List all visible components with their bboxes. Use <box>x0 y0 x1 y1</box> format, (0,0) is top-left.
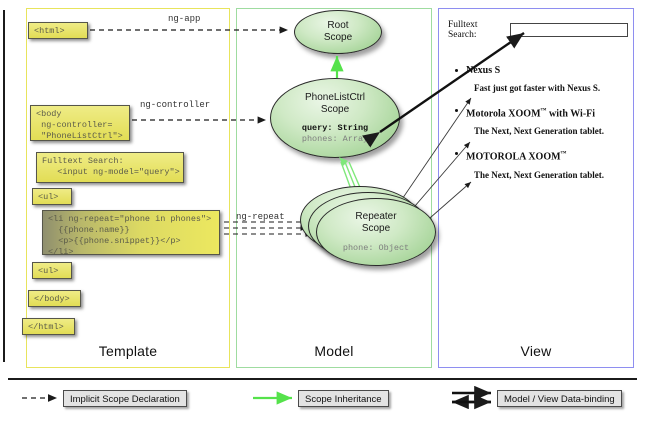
phonelistctrl-scope: PhoneListCtrlScope query: String phones:… <box>270 78 400 158</box>
legend-item-scope-inheritance: Scope Inheritance <box>298 390 389 407</box>
phonelistctrl-scope-props: query: String phones: Array <box>302 123 368 145</box>
view-content: Fulltext Search: Nexus S Fast just got f… <box>444 14 630 191</box>
label-ng-repeat: ng-repeat <box>236 212 285 222</box>
prop-query: query: String <box>302 123 368 134</box>
template-box-html-close: </html> <box>22 318 75 335</box>
legend-glyph-model-view-data-binding <box>452 393 491 402</box>
legend-divider <box>8 378 637 380</box>
list-item: Motorola XOOM™ with Wi-Fi The Next, Next… <box>466 104 630 138</box>
panel-model-title: Model <box>237 343 431 359</box>
template-box-html-open: <html> <box>28 22 88 39</box>
panel-view-title: View <box>439 343 633 359</box>
root-scope: RootScope <box>294 10 382 54</box>
repeater-scope-label: RepeaterScope <box>355 211 396 235</box>
repeater-scope: RepeaterScope phone: Object <box>316 198 436 266</box>
view-phone-list: Nexus S Fast just got faster with Nexus … <box>444 64 630 182</box>
template-box-ul-open: <ul> <box>32 188 72 205</box>
phone-snippet: Fast just got faster with Nexus S. <box>474 82 630 95</box>
phonelistctrl-scope-label: PhoneListCtrlScope <box>305 92 365 116</box>
template-box-search-markup: Fulltext Search: <input ng-model="query"… <box>36 152 184 183</box>
phone-name: MOTOROLA XOOM™ <box>466 147 630 164</box>
phone-snippet: The Next, Next Generation tablet. <box>474 125 630 138</box>
label-ng-app: ng-app <box>168 14 200 24</box>
label-ng-controller: ng-controller <box>140 100 210 110</box>
phone-name: Motorola XOOM™ with Wi-Fi <box>466 104 630 121</box>
list-item: MOTOROLA XOOM™ The Next, Next Generation… <box>466 147 630 181</box>
panel-template-title: Template <box>27 343 229 359</box>
legend-item-model-view-data-binding: Model / View Data-binding <box>497 390 622 407</box>
repeater-scope-props: phone: Object <box>343 243 409 254</box>
template-box-ul-close: <ul> <box>32 262 72 279</box>
left-vertical-rule <box>3 10 5 362</box>
root-scope-label: RootScope <box>324 20 352 44</box>
phone-snippet: The Next, Next Generation tablet. <box>474 169 630 182</box>
template-box-body-close: </body> <box>28 290 81 307</box>
fulltext-search-input[interactable] <box>510 23 628 37</box>
prop-phone: phone: Object <box>343 243 409 254</box>
template-box-body-open: <body ng-controller= "PhoneListCtrl"> <box>30 105 130 141</box>
prop-phones: phones: Array <box>302 134 368 145</box>
legend-item-implicit-scope-declaration: Implicit Scope Declaration <box>63 390 187 407</box>
fulltext-search-label: Fulltext Search: <box>448 20 506 40</box>
list-item: Nexus S Fast just got faster with Nexus … <box>466 64 630 95</box>
diagram-canvas: Template <html> <body ng-controller= "Ph… <box>0 0 645 425</box>
template-box-li-repeat: <li ng-repeat="phone in phones"> {{phone… <box>42 210 220 255</box>
view-search-row: Fulltext Search: <box>444 14 630 40</box>
panel-model: Model <box>236 8 432 368</box>
phone-name: Nexus S <box>466 64 630 78</box>
